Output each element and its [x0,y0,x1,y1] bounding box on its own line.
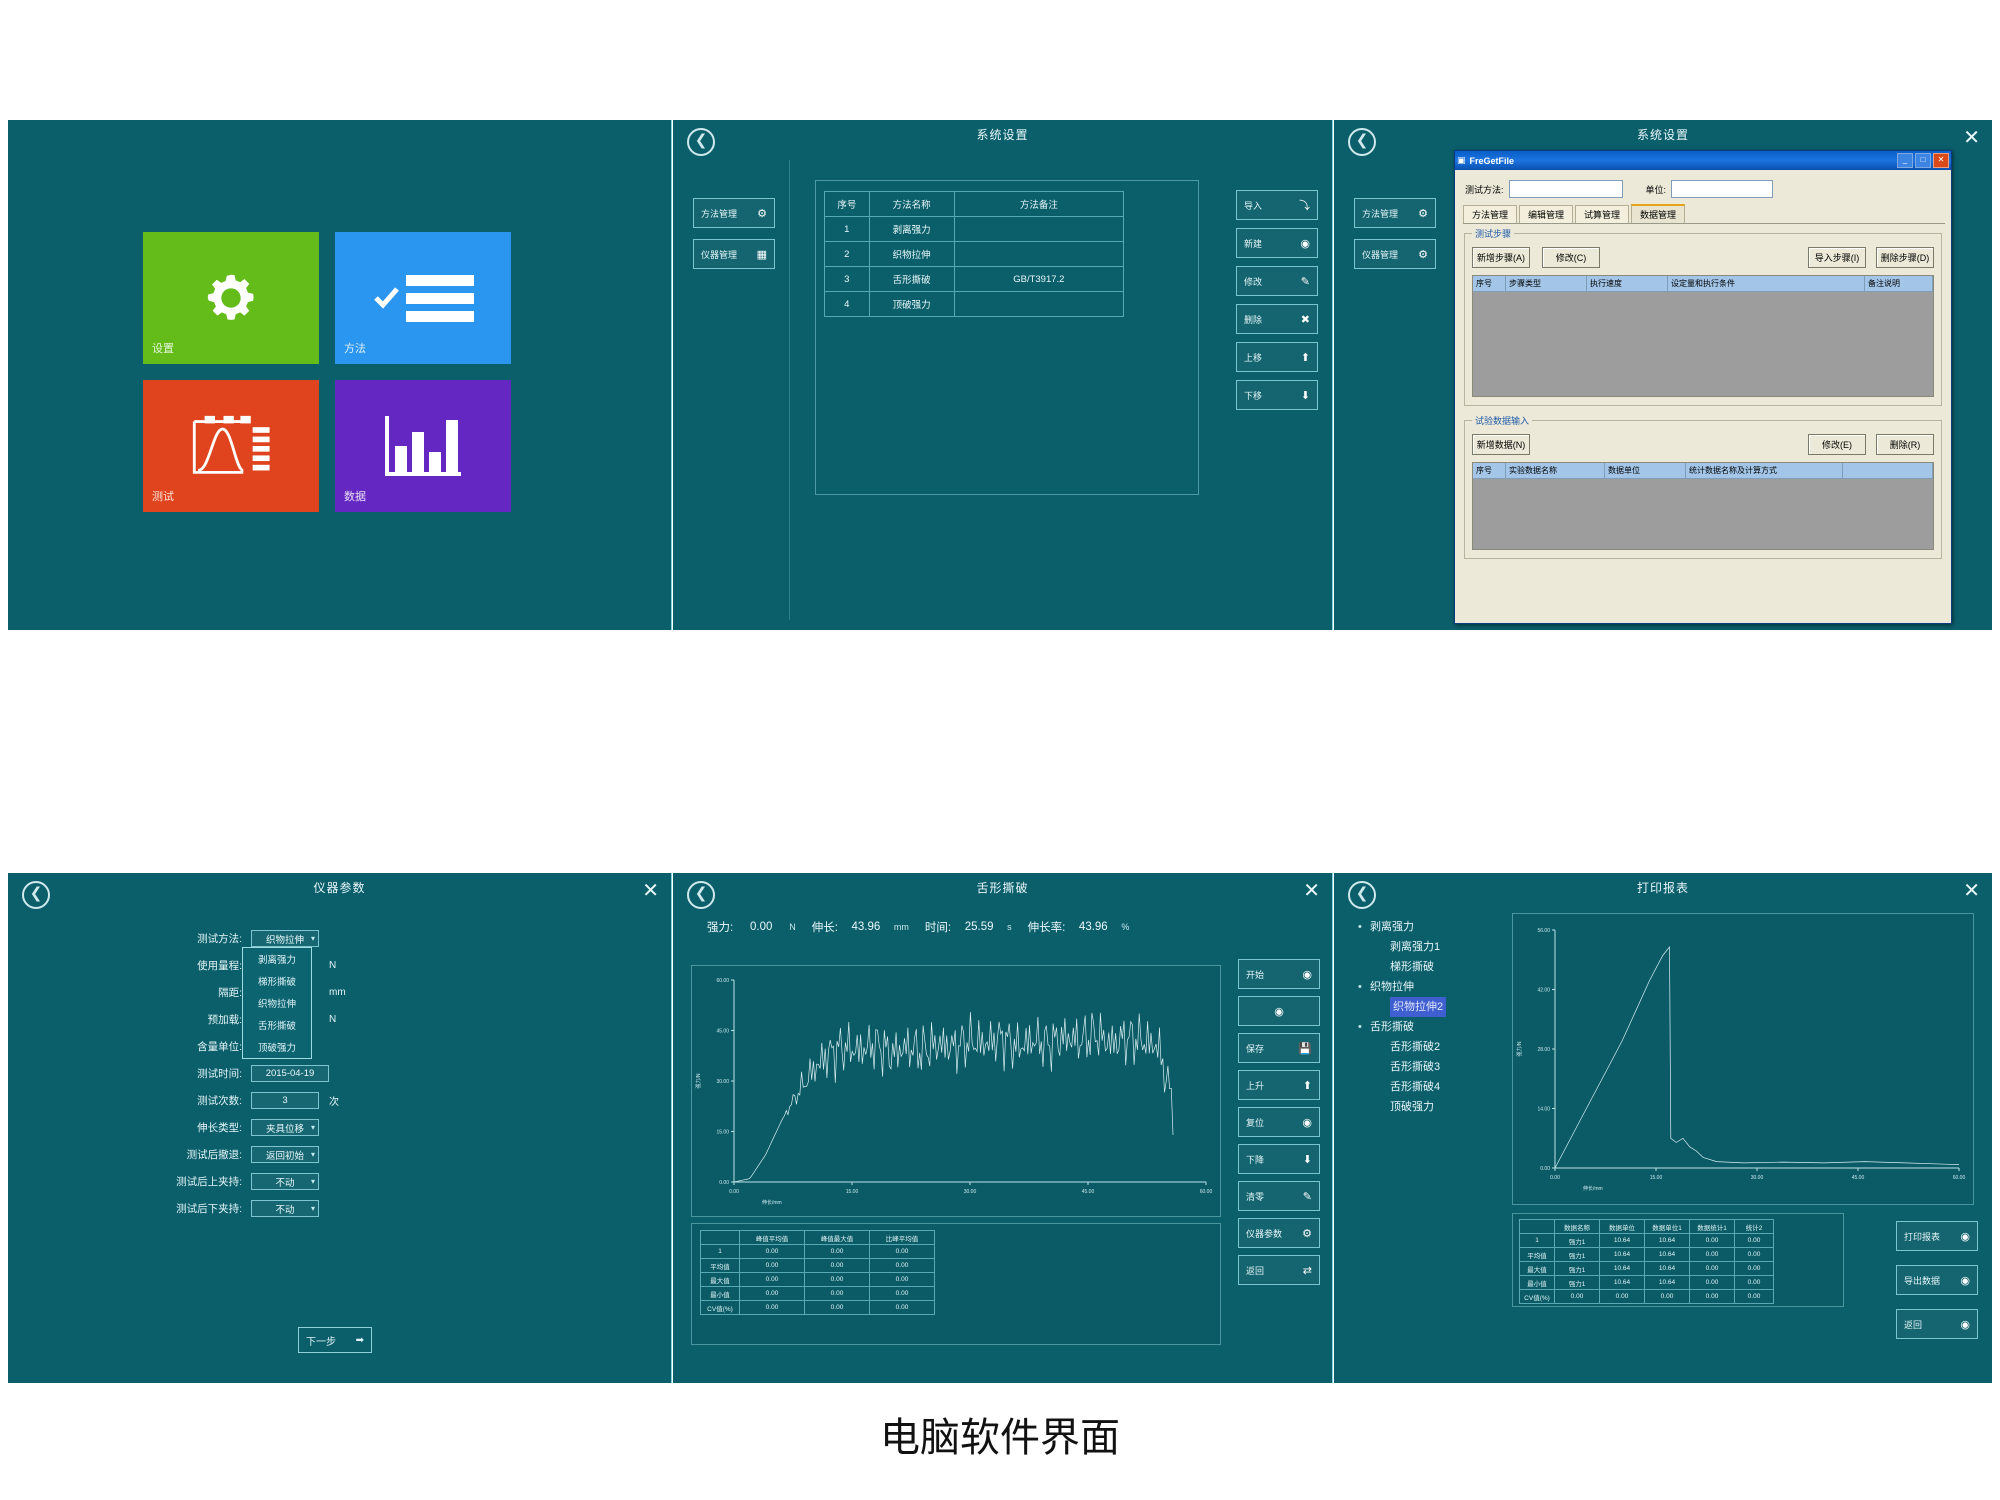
tile-label: 设置 [152,340,174,356]
button-label: 上移 [1244,351,1262,364]
form-row-test-date: 测试时间: 2015-04-19 [130,1060,550,1087]
stop-circle-icon: ◉ [1274,1005,1284,1018]
col-index: 序号 [825,192,870,217]
unit-input[interactable] [1671,180,1773,198]
back-circle-icon: ◉ [1960,1318,1970,1331]
tab-data-manage[interactable]: 数据管理 [1631,204,1685,223]
field-unit: N [329,960,336,971]
close-icon[interactable]: ✕ [642,881,659,901]
table-cell: 最大值 [1520,1262,1555,1276]
method-manage-button[interactable]: 方法管理 ⚙ [1354,198,1436,228]
modify-step-button[interactable]: 修改(C) [1542,247,1600,268]
right-button-group: 导入 ⤵ 新建 ◉ 修改 ✎ 删除 ✖ 上移 ⬆ 下移 ⬇ [1236,190,1318,410]
results-table-box: 峰值平均值峰值最大值比峰平均值10.000.000.00平均值0.000.000… [691,1223,1221,1345]
svg-text:0.00: 0.00 [719,1180,729,1186]
grid-col-speed: 执行速度 [1587,276,1668,291]
test-button-group: 开始 ◉ ◉ 保存 💾 上升 ⬆ 复位 ◉ 下降 ⬇ 清零 ✎ 仪器参数 ⚙ [1238,959,1320,1285]
table-cell: 10.64 [1645,1234,1690,1248]
col-note: 方法备注 [954,192,1123,217]
svg-text:0.00: 0.00 [1540,1166,1550,1172]
add-circle-icon: ◉ [1300,237,1310,250]
table-cell: 最大值 [701,1273,740,1287]
method-table-frame: 序号 方法名称 方法备注 1 剥离强力 2 织物拉伸 3 舌形 [815,180,1199,495]
force-label: 强力: [707,919,733,935]
field-label: 测试后下夹持: [130,1201,251,1216]
form-row-gauge: 隔距: mm [130,979,550,1006]
minimize-button[interactable]: _ [1897,153,1913,168]
grid-col-note: 备注说明 [1865,276,1933,291]
table-cell: 0.00 [740,1287,805,1301]
figure-caption: 电脑软件界面 [0,1405,2000,1463]
svg-text:伸长/mm: 伸长/mm [762,1199,782,1206]
field-unit: mm [329,987,346,998]
table-cell: 0.00 [1735,1262,1774,1276]
page-title: 舌形撕破 [673,879,1332,896]
method-table[interactable]: 序号 方法名称 方法备注 1 剥离强力 2 织物拉伸 3 舌形 [824,191,1124,317]
method-edit-dialog: ▣ FreGetFile _ □ ✕ 测试方法: 单位: 方法管理 编辑管理 [1454,150,1952,624]
input-value: 3 [282,1095,287,1106]
lower-clamp-select[interactable]: 不动 ▾ [251,1200,319,1217]
add-step-button[interactable]: 新增步骤(A) [1472,247,1530,268]
table-row[interactable]: CV值(%)0.000.000.00 [701,1301,935,1315]
svg-text:60.00: 60.00 [1200,1189,1213,1195]
dialog-tabs: 方法管理 编辑管理 试算管理 数据管理 [1463,204,1945,224]
table-row[interactable]: 2 织物拉伸 [825,242,1124,267]
table-row[interactable]: 3 舌形撕破 GB/T3917.2 [825,267,1124,292]
table-row[interactable]: 10.000.000.00 [701,1245,935,1259]
table-cell: 0.00 [1555,1290,1600,1304]
dropdown-option[interactable]: 剥离强力 [243,948,311,970]
time-label: 时间: [925,919,951,935]
svg-text:15.00: 15.00 [1650,1175,1663,1181]
dialog-field-row: 测试方法: 单位: [1465,180,1945,198]
tree-item[interactable]: 织物拉伸 [1356,977,1496,997]
save-button[interactable]: 保存 💾 [1238,1033,1320,1063]
col-header: 比峰平均值 [870,1231,935,1245]
col-header [701,1231,740,1245]
col-header [1520,1220,1555,1234]
time-unit: s [1007,922,1012,932]
tree-item[interactable]: 顶破强力 [1356,1097,1496,1117]
button-label: 方法管理 [701,207,737,220]
elong-rate-value: 43.96 [1069,921,1117,933]
grid-col-dataname: 实验数据名称 [1506,463,1605,478]
svg-text:60.00: 60.00 [1953,1175,1966,1181]
return-button[interactable]: 返回 ◉ [1896,1309,1978,1339]
table-cell: 10.64 [1645,1262,1690,1276]
close-icon[interactable]: ✕ [1963,881,1980,901]
table-cell: 0.00 [1690,1276,1735,1290]
dialog-titlebar[interactable]: ▣ FreGetFile _ □ ✕ [1455,151,1951,170]
table-cell: CV值(%) [701,1301,740,1315]
select-value: 不动 [275,1202,294,1216]
print-report-button[interactable]: 打印报表 ◉ [1896,1221,1978,1251]
col-header: 峰值平均值 [740,1231,805,1245]
test-count-input[interactable]: 3 [251,1092,319,1109]
col-header: 峰值最大值 [805,1231,870,1245]
tree-item[interactable]: 剥离强力 [1356,917,1496,937]
left-button-group: 方法管理 ⚙ 仪器管理 ▦ [693,198,775,269]
print-report-panel: ❮ 打印报表 ✕ 剥离强力剥离强力1梯形撕破织物拉伸织物拉伸2舌形撕破舌形撕破2… [1334,873,1992,1383]
svg-text:60.00: 60.00 [716,978,729,984]
svg-text:强力/N: 强力/N [1516,1041,1523,1056]
test-data-group: 试验数据输入 新增数据(N) 修改(E) 删除(R) 序号 实验数据名称 数据单… [1464,420,1942,559]
grid-icon: ▦ [757,248,767,261]
elongation-label: 伸长: [812,919,838,935]
tree-item-label: 织物拉伸 [1370,981,1414,993]
form-row-test-count: 测试次数: 3 次 [130,1087,550,1114]
col-header: 统计2 [1735,1220,1774,1234]
tree-item[interactable]: 舌形撕破 [1356,1017,1496,1037]
target-circle-icon: ◉ [1302,1116,1312,1129]
tree-item-label: 梯形撕破 [1390,961,1434,973]
table-row[interactable]: 平均值强力110.6410.640.000.00 [1520,1248,1774,1262]
svg-text:45.00: 45.00 [1852,1175,1865,1181]
report-tree[interactable]: 剥离强力剥离强力1梯形撕破织物拉伸织物拉伸2舌形撕破舌形撕破2舌形撕破3舌形撕破… [1356,917,1496,1117]
method-name-label: 测试方法: [1465,183,1504,196]
button-label: 返回 [1246,1264,1264,1277]
home-panel: 设置 方法 [8,120,672,630]
table-cell: 强力1 [1555,1234,1600,1248]
close-icon: ✖ [1301,313,1310,326]
arrow-down-icon: ⬇ [1303,1153,1312,1166]
form-row-elong-type: 伸长类型: 夹具位移 ▾ [130,1114,550,1141]
tree-item[interactable]: 剥离强力1 [1356,937,1496,957]
bar-chart-icon [385,416,461,476]
tree-item-label: 舌形撕破4 [1390,1081,1440,1093]
elongation-unit: mm [894,922,909,932]
grid-col-index: 序号 [1473,276,1506,291]
stop-button[interactable]: ◉ [1238,996,1320,1026]
table-cell: 0.00 [870,1273,935,1287]
table-cell: 10.64 [1600,1234,1645,1248]
tree-item-label: 舌形撕破3 [1390,1061,1440,1073]
tile-data[interactable]: 数据 [335,380,511,512]
tile-label: 方法 [344,340,366,356]
tree-item-label: 舌形撕破2 [1390,1041,1440,1053]
save-icon: 💾 [1298,1042,1312,1055]
field-label: 含量单位: [130,1039,251,1054]
cell-note [954,292,1123,317]
move-up-button[interactable]: 上移 ⬆ [1236,342,1318,372]
tab-calc-manage[interactable]: 试算管理 [1575,205,1629,223]
up-button[interactable]: 上升 ⬆ [1238,1070,1320,1100]
table-cell: 最小值 [1520,1276,1555,1290]
instrument-manage-button[interactable]: 仪器管理 ⚙ [1354,239,1436,269]
tile-test[interactable]: 测试 [143,380,319,512]
button-label: 新建 [1244,237,1262,250]
chevron-down-icon: ▾ [311,1204,315,1213]
reset-button[interactable]: 复位 ◉ [1238,1107,1320,1137]
waveform-chart[interactable]: 0.0015.0030.0045.0060.000.0015.0030.0045… [691,965,1221,1217]
tile-label: 测试 [152,488,174,504]
tree-item[interactable]: 舌形撕破2 [1356,1037,1496,1057]
tab-method-manage[interactable]: 方法管理 [1463,205,1517,223]
dropdown-option[interactable]: 织物拉伸 [243,992,311,1014]
tile-method[interactable]: 方法 [335,232,511,364]
start-button[interactable]: 开始 ◉ [1238,959,1320,989]
svg-text:45.00: 45.00 [716,1029,729,1035]
group-legend: 试验数据输入 [1472,414,1532,427]
pencil-icon: ✎ [1303,1190,1312,1203]
chevron-down-icon: ▾ [311,1150,315,1159]
add-data-button[interactable]: 新增数据(N) [1472,434,1530,455]
cell-name: 舌形撕破 [869,267,954,292]
grid-col-stat: 统计数据名称及计算方式 [1686,463,1843,478]
select-value: 织物拉伸 [266,932,304,946]
export-circle-icon: ◉ [1960,1274,1970,1287]
method-manage-button[interactable]: 方法管理 ⚙ [693,198,775,228]
return-button[interactable]: 返回 ⇄ [1238,1255,1320,1285]
chevron-down-icon: ▾ [311,1123,315,1132]
field-label: 测试方法: [130,931,251,946]
grid-body[interactable] [1473,292,1933,396]
grid-col-cond: 设定量和执行条件 [1668,276,1865,291]
field-label: 预加载: [130,1012,251,1027]
tree-item[interactable]: 舌形撕破4 [1356,1077,1496,1097]
button-label: 导入 [1244,199,1262,212]
grid-col-index: 序号 [1473,463,1506,478]
svg-text:30.00: 30.00 [716,1079,729,1085]
curve-chart-icon [188,414,274,478]
table-cell: 0.00 [805,1245,870,1259]
edit-button[interactable]: 修改 ✎ [1236,266,1318,296]
svg-text:45.00: 45.00 [1082,1189,1095,1195]
close-button[interactable]: ✕ [1933,153,1949,168]
form-row-range: 使用量程: N [130,952,550,979]
gear-icon: ⚙ [1302,1227,1312,1240]
grid-col-type: 步骤类型 [1506,276,1587,291]
button-label: 下移 [1244,389,1262,402]
zero-button[interactable]: 清零 ✎ [1238,1181,1320,1211]
table-cell: 1 [701,1245,740,1259]
gear-icon: ⚙ [757,207,767,220]
params-form: 测试方法: 织物拉伸 ▾ 剥离强力 梯形撕破 织物拉伸 舌形撕破 顶破强力 使用… [130,925,550,1222]
cell-index: 2 [825,242,870,267]
svg-text:56.00: 56.00 [1537,928,1550,934]
table-cell: 10.64 [1600,1262,1645,1276]
table-cell: 0.00 [870,1301,935,1315]
table-cell: 0.00 [805,1287,870,1301]
svg-text:42.00: 42.00 [1537,988,1550,994]
export-data-button[interactable]: 导出数据 ◉ [1896,1265,1978,1295]
form-row-test-method: 测试方法: 织物拉伸 ▾ 剥离强力 梯形撕破 织物拉伸 舌形撕破 顶破强力 [130,925,550,952]
form-row-preload: 预加载: N [130,1006,550,1033]
button-label: 仪器参数 [1246,1227,1282,1240]
svg-text:0.00: 0.00 [729,1189,739,1195]
pencil-icon: ✎ [1301,275,1310,288]
table-cell: 0.00 [740,1259,805,1273]
svg-text:强力/N: 强力/N [695,1073,702,1088]
page-title: 仪器参数 [8,879,671,896]
test-waveform-panel: ❮ 舌形撕破 ✕ 强力: 0.00 N 伸长: 43.96 mm 时间: 25.… [673,873,1333,1383]
svg-text:28.00: 28.00 [1537,1047,1550,1053]
cell-name: 顶破强力 [869,292,954,317]
new-button[interactable]: 新建 ◉ [1236,228,1318,258]
page-title: 系统设置 [673,126,1332,143]
table-cell: 0.00 [740,1301,805,1315]
next-step-button[interactable]: 下一步 ➡ [298,1327,372,1353]
import-arrow-icon: ⤵ [1299,197,1310,213]
button-label: 下降 [1246,1153,1264,1166]
table-row[interactable]: 最大值0.000.000.00 [701,1273,935,1287]
upper-clamp-select[interactable]: 不动 ▾ [251,1173,319,1190]
tile-settings[interactable]: 设置 [143,232,319,364]
table-cell: 0.00 [1735,1234,1774,1248]
system-settings-panel: ❮ 系统设置 方法管理 ⚙ 仪器管理 ▦ 序号 方法名称 方法备注 [673,120,1333,630]
instrument-manage-button[interactable]: 仪器管理 ▦ [693,239,775,269]
data-grid[interactable]: 序号 实验数据名称 数据单位 统计数据名称及计算方式 [1472,462,1934,550]
delete-step-button[interactable]: 删除步骤(D) [1876,247,1934,268]
tree-item[interactable]: 梯形撕破 [1356,957,1496,977]
table-row[interactable]: 1强力110.6410.640.000.00 [1520,1234,1774,1248]
arrow-up-icon: ⬆ [1303,1079,1312,1092]
cell-note [954,217,1123,242]
col-header: 数据单位 [1600,1220,1645,1234]
svg-text:15.00: 15.00 [716,1130,729,1136]
form-row-lower-clamp: 测试后下夹持: 不动 ▾ [130,1195,550,1222]
table-cell: 0.00 [1690,1262,1735,1276]
svg-text:30.00: 30.00 [1751,1175,1764,1181]
tile-label: 数据 [344,488,366,504]
after-retreat-select[interactable]: 返回初始 ▾ [251,1146,319,1163]
table-cell: 0.00 [1690,1248,1735,1262]
chevron-down-icon: ▾ [311,934,315,943]
tab-edit-manage[interactable]: 编辑管理 [1519,205,1573,223]
select-value: 返回初始 [266,1148,304,1162]
left-button-group: 方法管理 ⚙ 仪器管理 ⚙ [1354,198,1436,269]
button-label: 保存 [1246,1042,1264,1055]
steps-grid[interactable]: 序号 步骤类型 执行速度 设定量和执行条件 备注说明 [1472,275,1934,397]
test-method-select[interactable]: 织物拉伸 ▾ [251,930,319,947]
table-cell: 0.00 [1690,1234,1735,1248]
tile-grid: 设置 方法 [143,232,513,512]
table-row[interactable]: 最小值强力110.6410.640.000.00 [1520,1276,1774,1290]
close-icon[interactable]: ✕ [1303,881,1320,901]
field-unit: N [329,1014,336,1025]
table-cell: 强力1 [1555,1262,1600,1276]
force-unit: N [789,922,796,932]
tree-item-label: 织物拉伸2 [1390,997,1446,1017]
button-label: 复位 [1246,1116,1264,1129]
field-label: 测试次数: [130,1093,251,1108]
arrow-up-icon: ⬆ [1301,351,1310,364]
down-button[interactable]: 下降 ⬇ [1238,1144,1320,1174]
elong-type-select[interactable]: 夹具位移 ▾ [251,1119,319,1136]
gear-icon: ⚙ [1418,248,1428,261]
report-table-box: 数据名称数据单位数据单位1数据统计1统计21强力110.6410.640.000… [1512,1213,1844,1307]
unit-label: 单位: [1646,183,1667,196]
table-cell: 0.00 [805,1301,870,1315]
form-row-content-unit: 含量单位: [130,1033,550,1060]
table-row[interactable]: 4 顶破强力 [825,292,1124,317]
refresh-icon: ⇄ [1303,1264,1312,1277]
system-settings-dialog-panel: ❮ 系统设置 ✕ 方法管理 ⚙ 仪器管理 ⚙ ▣ FreGetFile _ □ … [1334,120,1992,630]
cell-note: GB/T3917.2 [954,267,1123,292]
import-button[interactable]: 导入 ⤵ [1236,190,1318,220]
dropdown-option[interactable]: 顶破强力 [243,1036,311,1058]
group-legend: 测试步骤 [1472,227,1514,240]
select-value: 夹具位移 [266,1121,304,1135]
table-cell: 0.00 [1735,1276,1774,1290]
field-label: 测试后撤退: [130,1147,251,1162]
table-cell: 0.00 [740,1273,805,1287]
delete-data-button[interactable]: 删除(R) [1876,434,1934,455]
button-label: 仪器管理 [1362,248,1398,261]
arrow-right-circle-icon: ➡ [356,1335,364,1346]
test-method-dropdown[interactable]: 剥离强力 梯形撕破 织物拉伸 舌形撕破 顶破强力 [242,947,312,1059]
grid-body[interactable] [1473,479,1933,549]
table-cell: 0.00 [1735,1248,1774,1262]
import-step-button[interactable]: 导入步骤(I) [1808,247,1866,268]
svg-text:30.00: 30.00 [964,1189,977,1195]
table-cell: 0.00 [740,1245,805,1259]
method-name-input[interactable] [1509,180,1623,198]
report-chart[interactable]: 0.0014.0028.0042.0056.000.0015.0030.0045… [1512,913,1974,1205]
table-cell: 强力1 [1555,1248,1600,1262]
move-down-button[interactable]: 下移 ⬇ [1236,380,1318,410]
delete-button[interactable]: 删除 ✖ [1236,304,1318,334]
maximize-button[interactable]: □ [1915,153,1931,168]
button-label: 清零 [1246,1190,1264,1203]
table-cell: 0.00 [805,1273,870,1287]
modify-data-button[interactable]: 修改(E) [1808,434,1866,455]
table-row[interactable]: 最小值0.000.000.00 [701,1287,935,1301]
field-label: 测试后上夹持: [130,1174,251,1189]
table-cell: 0.00 [870,1245,935,1259]
instrument-params-panel: ❮ 仪器参数 ✕ 测试方法: 织物拉伸 ▾ 剥离强力 梯形撕破 织物拉伸 舌形撕… [8,873,672,1383]
select-value: 不动 [275,1175,294,1189]
close-icon[interactable]: ✕ [1963,128,1980,148]
page-title: 打印报表 [1334,879,1992,896]
table-row[interactable]: 平均值0.000.000.00 [701,1259,935,1273]
tree-item[interactable]: 舌形撕破3 [1356,1057,1496,1077]
table-row[interactable]: 最大值强力110.6410.640.000.00 [1520,1262,1774,1276]
cell-name: 剥离强力 [869,217,954,242]
arrow-down-icon: ⬇ [1301,389,1310,402]
table-row[interactable]: CV值(%)0.000.000.000.000.00 [1520,1290,1774,1304]
instrument-params-button[interactable]: 仪器参数 ⚙ [1238,1218,1320,1248]
test-date-input[interactable]: 2015-04-19 [251,1065,329,1082]
dialog-title: FreGetFile [1466,156,1897,166]
button-label: 修改 [1244,275,1262,288]
svg-text:伸长/mm: 伸长/mm [1583,1185,1603,1192]
cell-index: 1 [825,217,870,242]
cell-note [954,242,1123,267]
button-label: 上升 [1246,1079,1264,1092]
dropdown-option[interactable]: 舌形撕破 [243,1014,311,1036]
dropdown-option[interactable]: 梯形撕破 [243,970,311,992]
force-value: 0.00 [737,921,785,933]
table-row[interactable]: 1 剥离强力 [825,217,1124,242]
form-row-after-retreat: 测试后撤退: 返回初始 ▾ [130,1141,550,1168]
field-label: 伸长类型: [130,1120,251,1135]
button-label: 返回 [1904,1318,1922,1331]
table-cell: 0.00 [1645,1290,1690,1304]
test-steps-group: 测试步骤 新增步骤(A) 修改(C) 导入步骤(I) 删除步骤(D) [1464,233,1942,406]
tree-item[interactable]: 织物拉伸2 [1356,997,1496,1017]
col-header: 数据统计1 [1690,1220,1735,1234]
table-cell: 1 [1520,1234,1555,1248]
cell-index: 4 [825,292,870,317]
table-cell: 10.64 [1645,1248,1690,1262]
field-label: 测试时间: [130,1066,251,1081]
table-cell: 10.64 [1600,1248,1645,1262]
readout-bar: 强力: 0.00 N 伸长: 43.96 mm 时间: 25.59 s 伸长率:… [695,919,1310,935]
play-circle-icon: ◉ [1302,968,1312,981]
col-header: 数据单位1 [1645,1220,1690,1234]
table-cell: 0.00 [870,1259,935,1273]
